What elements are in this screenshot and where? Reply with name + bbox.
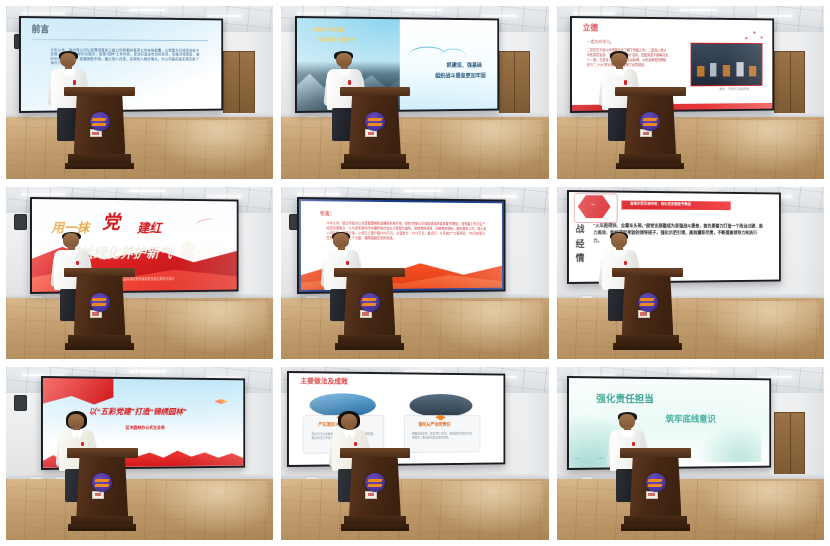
photo-thumbnail-6[interactable]: 一 发挥示范引领作用，强化党支部给予确设 战 经 情 “火车跑得快、全靠车头带。…	[557, 187, 824, 360]
door	[774, 51, 805, 117]
door	[499, 51, 530, 117]
floor-glare	[145, 301, 268, 356]
company-logo	[638, 293, 658, 312]
company-logo	[90, 112, 110, 131]
wall-speaker-left	[14, 395, 27, 411]
photo-thumbnail-1[interactable]: 前言 今年以来，海州湾公司认真贯彻落实上级公司党委的各项工作安排部署，以党建为引…	[6, 6, 273, 179]
wall-speaker-left	[14, 214, 27, 230]
party-badge	[624, 80, 627, 84]
photo-thumbnail-8[interactable]: 主要做法及成效 严实落实中全会精神 组织学习全会精神，深入学习贯彻落实公司决策部…	[281, 367, 548, 540]
floor-glare	[145, 120, 268, 175]
party-badge	[354, 442, 357, 446]
floor-glare	[420, 120, 543, 175]
photo-thumbnail-7[interactable]: 以“五彩党建”打造“锦绣园林” 区木园林办公式主业务	[6, 367, 273, 540]
floor-glare	[696, 481, 819, 536]
podium	[73, 448, 132, 531]
podium	[340, 268, 399, 351]
party-badge	[76, 261, 79, 265]
photo-grid: 前言 今年以来，海州湾公司认真贯彻落实上级公司党委的各项工作安排部署，以党建为引…	[0, 0, 830, 546]
photo-thumbnail-2[interactable]: 中国党 光辉历程 党建引领 汇聚合力 抓建设、强基础 组织战斗堡垒更加牢固	[281, 6, 548, 179]
company-logo	[365, 112, 385, 131]
floor-glare	[145, 481, 268, 536]
podium	[618, 268, 677, 351]
podium	[345, 448, 404, 531]
floor-glare	[696, 301, 819, 356]
floor-glare	[420, 481, 543, 536]
party-badge	[81, 442, 84, 446]
company-logo	[360, 293, 380, 312]
party-badge	[348, 80, 351, 84]
company-logo	[646, 473, 666, 492]
podium	[70, 87, 129, 170]
party-badge	[346, 261, 349, 265]
photo-thumbnail-3[interactable]: 立德 一是内外学习。 二是党员干部公司党委先许了解了党建工作；二是深入到公司各基…	[557, 6, 824, 179]
door	[223, 51, 254, 117]
podium	[626, 448, 685, 531]
podium	[621, 87, 680, 170]
podium	[70, 268, 129, 351]
floor-glare	[696, 120, 819, 175]
party-badge	[632, 442, 635, 446]
floor-glare	[420, 301, 543, 356]
party-badge	[73, 80, 76, 84]
company-logo	[90, 293, 110, 312]
photo-thumbnail-9[interactable]: 强化责任担当 筑牢底线意识	[557, 367, 824, 540]
photo-thumbnail-5[interactable]: 引言： 今年以来，镇达市政对公司紧紧围绕和发展的本地环境，坚持“内核心引领促进高…	[281, 187, 548, 360]
party-badge	[624, 261, 627, 265]
photo-thumbnail-4[interactable]: 用一抹 党 建红 描绘绿化养护新气 象 区园林绿化养护建设党支部主题党日活动	[6, 187, 273, 360]
podium	[345, 87, 404, 170]
door	[774, 412, 805, 478]
